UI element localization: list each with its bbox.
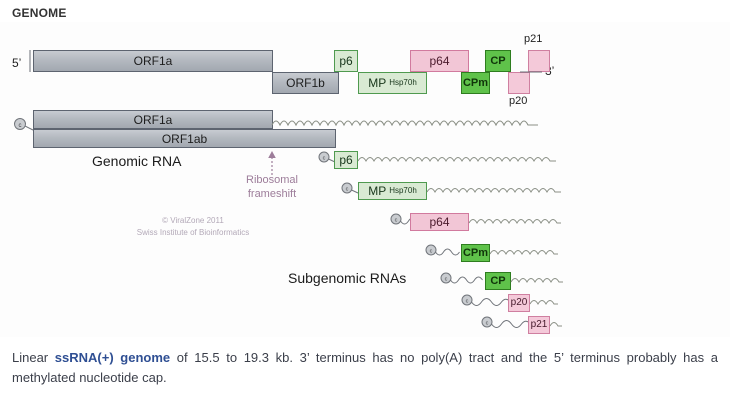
sg-mp-wave [427, 185, 562, 197]
sg-p64-box: p64 [410, 213, 469, 231]
orf1b-label-map: ORF1b [286, 77, 325, 89]
sg-cp-box: CP [485, 272, 511, 290]
sg-p21-wave [550, 319, 564, 331]
sg-p6-box: p6 [334, 151, 358, 169]
genomic-rna-caption: Genomic RNA [92, 153, 181, 169]
cpm-label-map: CPm [463, 78, 488, 89]
caption-part1: Linear [12, 350, 55, 365]
ribosomal-frameshift-annotation: Ribosomal frameshift [232, 174, 312, 202]
p20-outside-label-map: p20 [509, 95, 527, 107]
subgenomic-rnas-caption: Subgenomic RNAs [288, 270, 406, 286]
svg-text:c: c [445, 277, 448, 283]
sg-p21-box: p21 [528, 316, 550, 334]
svg-text:c: c [19, 123, 22, 129]
p6-label-map: p6 [339, 55, 352, 67]
ssrna-genome-link[interactable]: ssRNA(+) genome [55, 350, 170, 365]
orf1a-bar-genomic: ORF1a [33, 110, 273, 129]
sg-hsp70h-label: Hsp70h [389, 187, 417, 195]
p21-box-map [528, 50, 550, 72]
svg-text:c: c [395, 218, 398, 224]
cp-box-map: CP [485, 50, 511, 72]
cap-icon-genomic: c [13, 116, 33, 134]
cap-icon-sg-cp: c [440, 271, 488, 287]
sg-mp-label: MP [368, 185, 386, 197]
svg-text:c: c [466, 299, 469, 305]
orf1ab-bar-genomic: ORF1ab [33, 129, 336, 148]
orf1a-label-genomic: ORF1a [134, 114, 173, 126]
cap-icon-sg-p21: c [481, 315, 533, 331]
orf1a-label-map: ORF1a [134, 55, 173, 67]
orf1b-bar-map: ORF1b [272, 72, 339, 94]
page-title: GENOME [12, 6, 67, 20]
p64-box-map: p64 [410, 50, 469, 72]
sg-p64-label: p64 [429, 216, 449, 228]
sg-cp-label: CP [490, 276, 505, 287]
cpm-box-map: CPm [461, 72, 490, 94]
p21-outside-label-map: p21 [524, 33, 542, 45]
svg-text:c: c [346, 187, 349, 193]
cp-label-map: CP [490, 56, 505, 67]
sg-mp-hsp70h-box: MPHsp70h [358, 182, 427, 200]
sg-p6-wave [358, 154, 558, 166]
cap-icon-sg-mp: c [341, 181, 359, 197]
cap-icon-sg-cpm: c [425, 243, 461, 259]
genome-diagram: 5’ 3’ ORF1a ORF1b p6 MPHsp70h p64 CPm CP [0, 22, 730, 337]
credit-line1: © ViralZone 2011 [118, 215, 268, 227]
mp-label-map: MP [368, 77, 386, 89]
svg-text:c: c [323, 156, 326, 162]
five-prime-label-top: 5’ [12, 56, 21, 70]
svg-text:c: c [430, 249, 433, 255]
figure-caption: Linear ssRNA(+) genome of 15.5 to 19.3 k… [12, 348, 718, 388]
genome-map-baseline [29, 50, 55, 74]
sg-p21-label: p21 [531, 320, 548, 330]
sg-cp-wave [511, 275, 563, 287]
ribosomal-frameshift-arrow [265, 148, 279, 176]
orf1a-bar-map: ORF1a [33, 50, 273, 72]
frameshift-line2: frameshift [232, 188, 312, 202]
sg-cpm-box: CPm [461, 244, 490, 262]
sg-p6-label: p6 [339, 154, 352, 166]
mp-hsp70h-box-map: MPHsp70h [358, 72, 427, 94]
hsp70h-label-map: Hsp70h [389, 79, 417, 87]
p6-box-map: p6 [334, 50, 358, 72]
orf1ab-label-genomic: ORF1ab [162, 133, 207, 145]
sg-p20-wave [530, 297, 558, 309]
svg-text:c: c [486, 321, 489, 327]
p20-box-map [508, 72, 530, 94]
copyright-credit: © ViralZone 2011 Swiss Institute of Bioi… [118, 215, 268, 239]
genome-map-three-prime-tail [520, 70, 544, 74]
p64-label-map: p64 [429, 55, 449, 67]
cap-icon-sg-p20: c [461, 293, 513, 309]
sg-p20-label: p20 [511, 298, 528, 308]
sg-cpm-wave [490, 247, 562, 259]
sg-cpm-label: CPm [463, 248, 488, 259]
genomic-rna-wave [272, 117, 542, 131]
credit-line2: Swiss Institute of Bioinformatics [118, 227, 268, 239]
sg-p20-box: p20 [508, 294, 530, 312]
sg-p64-wave [469, 216, 564, 228]
genome-figure-page: GENOME 5’ 3’ ORF1a ORF1b p6 MPHsp70h p64… [0, 0, 730, 414]
frameshift-line1: Ribosomal [232, 174, 312, 188]
